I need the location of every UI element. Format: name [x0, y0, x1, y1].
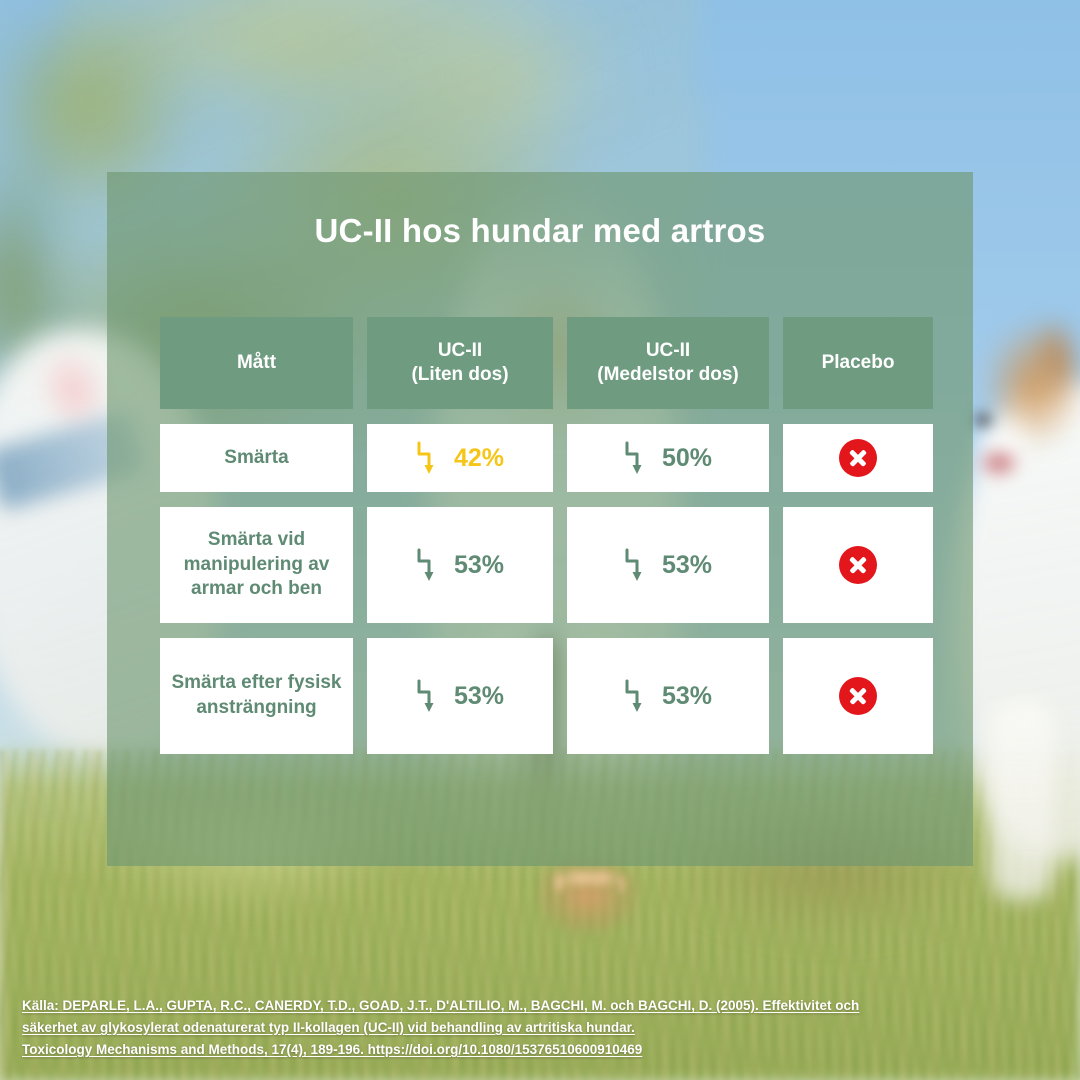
row-low-dose-value: 42%	[454, 442, 504, 475]
table-header-row: Mått UC-II (Liten dos) UC-II (Medelstor …	[160, 317, 936, 409]
source-line-1: Källa: DEPARLE, L.A., GUPTA, R.C., CANER…	[22, 995, 1062, 1017]
row-medium-dose-value: 53%	[662, 549, 712, 582]
header-measure-label: Mått	[237, 351, 276, 375]
page-title: UC-II hos hundar med artros	[107, 212, 973, 250]
table-row: Smärta 42% 50%	[160, 424, 936, 492]
x-circle-icon	[839, 439, 877, 477]
row-measure-cell: Smärta efter fysisk ansträngning	[160, 638, 353, 754]
header-medium-dose-line1: UC-II	[597, 339, 738, 363]
header-cell-measure: Mått	[160, 317, 353, 409]
row-low-dose-cell: 42%	[367, 424, 553, 492]
header-cell-medium-dose: UC-II (Medelstor dos)	[567, 317, 769, 409]
row-placebo-cell	[783, 507, 933, 623]
row-measure-cell: Smärta vid manipulering av armar och ben	[160, 507, 353, 623]
down-trend-arrow-icon	[624, 676, 650, 716]
row-placebo-cell	[783, 424, 933, 492]
header-placebo-label: Placebo	[822, 351, 895, 375]
row-medium-dose-value: 53%	[662, 680, 712, 713]
row-measure-cell: Smärta	[160, 424, 353, 492]
row-low-dose-value: 53%	[454, 549, 504, 582]
header-low-dose-line2: (Liten dos)	[411, 363, 508, 387]
source-citation: Källa: DEPARLE, L.A., GUPTA, R.C., CANER…	[22, 995, 1062, 1061]
row-measure-label: Smärta	[224, 446, 288, 471]
row-measure-label: Smärta efter fysisk ansträngning	[160, 671, 353, 720]
source-line-2: säkerhet av glykosylerat odenaturerat ty…	[22, 1017, 1062, 1039]
row-medium-dose-cell: 53%	[567, 507, 769, 623]
x-circle-icon	[839, 677, 877, 715]
header-cell-low-dose: UC-II (Liten dos)	[367, 317, 553, 409]
x-circle-icon	[839, 546, 877, 584]
down-trend-arrow-icon	[416, 676, 442, 716]
row-low-dose-cell: 53%	[367, 638, 553, 754]
down-trend-arrow-icon	[624, 545, 650, 585]
row-low-dose-cell: 53%	[367, 507, 553, 623]
source-line-3: Toxicology Mechanisms and Methods, 17(4)…	[22, 1039, 1062, 1061]
table-row: Smärta efter fysisk ansträngning 53%	[160, 638, 936, 754]
center-dog-paw-toes	[548, 862, 630, 902]
down-trend-arrow-icon	[624, 438, 650, 478]
table-row: Smärta vid manipulering av armar och ben…	[160, 507, 936, 623]
down-trend-arrow-icon	[416, 438, 442, 478]
header-cell-placebo: Placebo	[783, 317, 933, 409]
row-placebo-cell	[783, 638, 933, 754]
header-low-dose-line1: UC-II	[411, 339, 508, 363]
down-trend-arrow-icon	[416, 545, 442, 585]
content-panel: UC-II hos hundar med artros Mått UC-II (…	[107, 172, 973, 866]
right-dog-leg	[990, 700, 1054, 900]
row-medium-dose-value: 50%	[662, 442, 712, 475]
right-dog-mouth	[968, 440, 1030, 486]
row-medium-dose-cell: 50%	[567, 424, 769, 492]
row-medium-dose-cell: 53%	[567, 638, 769, 754]
row-measure-label: Smärta vid manipulering av armar och ben	[160, 528, 353, 602]
row-low-dose-value: 53%	[454, 680, 504, 713]
comparison-table: Mått UC-II (Liten dos) UC-II (Medelstor …	[160, 317, 936, 769]
header-medium-dose-line2: (Medelstor dos)	[597, 363, 738, 387]
